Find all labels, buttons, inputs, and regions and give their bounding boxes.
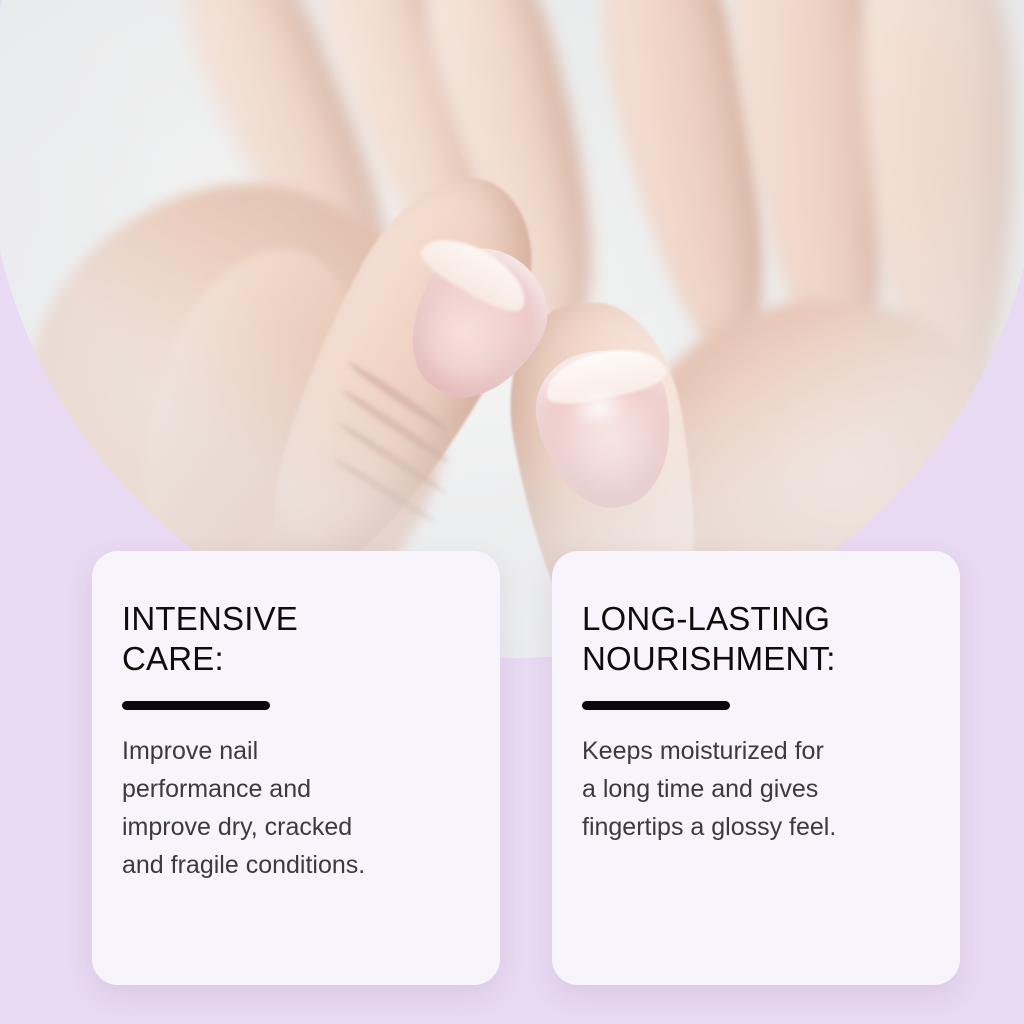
feature-card-title: INTENSIVE CARE: — [122, 599, 470, 679]
feature-card-intensive-care: INTENSIVE CARE: Improve nail performance… — [92, 551, 500, 985]
title-underline-rule — [582, 701, 730, 710]
promo-poster: INTENSIVE CARE: Improve nail performance… — [0, 0, 1024, 1024]
title-underline-rule — [122, 701, 270, 710]
feature-card-long-lasting-nourishment: LONG-LASTING NOURISHMENT: Keeps moisturi… — [552, 551, 960, 985]
feature-card-body: Improve nail performance and improve dry… — [122, 732, 470, 884]
feature-card-title: LONG-LASTING NOURISHMENT: — [582, 599, 930, 679]
feature-card-body: Keeps moisturized for a long time and gi… — [582, 732, 930, 846]
